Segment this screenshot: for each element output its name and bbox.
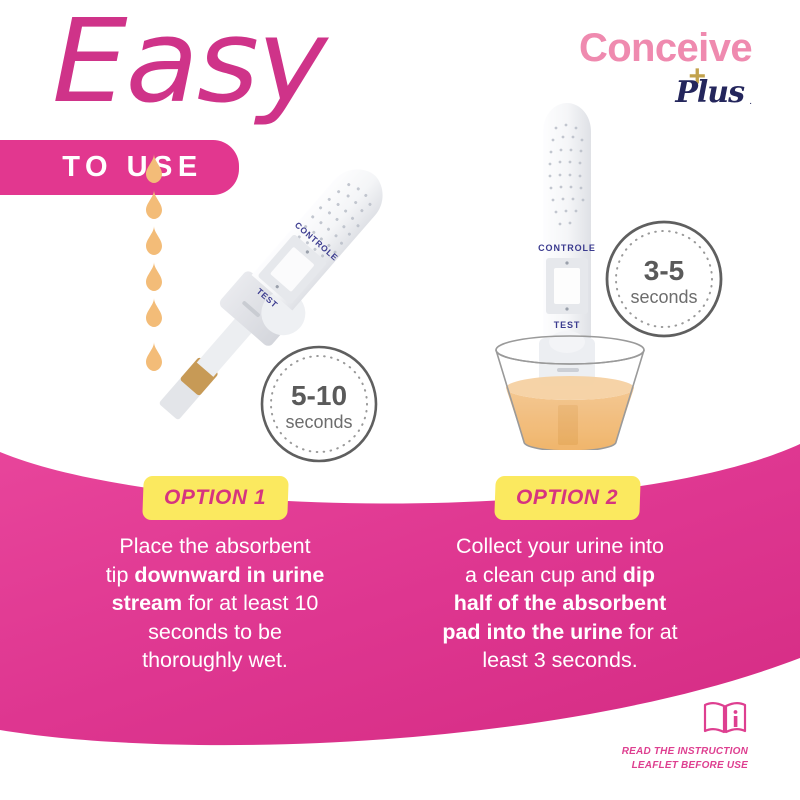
option-2-line-5: least 3 seconds. bbox=[482, 648, 637, 672]
option-1-line-2-bold: downward in urine bbox=[134, 563, 324, 587]
option-1-line-5: thoroughly wet. bbox=[142, 648, 288, 672]
result-window bbox=[554, 268, 580, 304]
option-1-line-3-plain: for at least 10 bbox=[182, 591, 318, 615]
option-1-tab[interactable]: OPTION 1 bbox=[142, 476, 289, 520]
window-mark-bottom bbox=[565, 307, 568, 310]
urine-drop bbox=[146, 298, 162, 327]
footer: READ THE INSTRUCTION LEAFLET BEFORE USE bbox=[622, 700, 748, 772]
option-2-description: Collect your urine into a clean cup and … bbox=[400, 532, 720, 675]
option-1-line-4: seconds to be bbox=[148, 620, 282, 644]
urine-drop bbox=[146, 154, 162, 183]
urine-drop bbox=[146, 190, 162, 219]
option-1-line-1: Place the absorbent bbox=[119, 534, 310, 558]
option-2-tab-label: OPTION 2 bbox=[516, 486, 618, 510]
option-1-tab-label: OPTION 1 bbox=[164, 486, 266, 510]
option-2-line-2-plain: a clean cup and bbox=[465, 563, 623, 587]
option-2-line-4-bold: pad into the urine bbox=[442, 620, 622, 644]
urine-drop bbox=[146, 262, 162, 291]
option-2-line-2-bold: dip bbox=[623, 563, 655, 587]
footer-line-2: LEAFLET BEFORE USE bbox=[622, 759, 748, 773]
stick-label-control: CONTROLE bbox=[538, 243, 596, 253]
badge-duration-value: 3-5 bbox=[644, 255, 684, 286]
option-2-tab[interactable]: OPTION 2 bbox=[494, 476, 641, 520]
logo-plus-word: Plus bbox=[675, 78, 744, 108]
option-1-description: Place the absorbent tip downward in urin… bbox=[55, 532, 375, 675]
badge-duration-value: 5-10 bbox=[291, 380, 347, 411]
badge-duration-unit: seconds bbox=[630, 287, 697, 307]
footer-line-1: READ THE INSTRUCTION bbox=[622, 745, 748, 759]
option-2-line-1: Collect your urine into bbox=[456, 534, 664, 558]
urine-drop bbox=[146, 226, 162, 255]
urine-drop bbox=[146, 342, 162, 371]
urine-drop-group bbox=[146, 154, 162, 371]
instruction-leaflet-icon bbox=[702, 700, 748, 736]
badge-duration-unit: seconds bbox=[285, 412, 352, 432]
stick-label-test: TEST bbox=[554, 320, 581, 330]
stick-grip-knob bbox=[549, 331, 585, 353]
page-title: Easy bbox=[52, 5, 326, 120]
logo-registered-mark: . bbox=[749, 96, 752, 107]
poster-canvas: Easy TO USE Conceive + Plus . bbox=[0, 0, 800, 800]
option-1-line-2-plain: tip bbox=[106, 563, 135, 587]
option-2-line-4-plain: for at bbox=[623, 620, 678, 644]
logo-brand-text: Conceive bbox=[562, 28, 752, 68]
option-2-line-3-bold: half of the absorbent bbox=[454, 591, 667, 615]
window-mark-top bbox=[565, 261, 568, 264]
badge-duration-3-5: 3-5 seconds bbox=[603, 218, 725, 340]
option-1-line-3-bold: stream bbox=[112, 591, 183, 615]
